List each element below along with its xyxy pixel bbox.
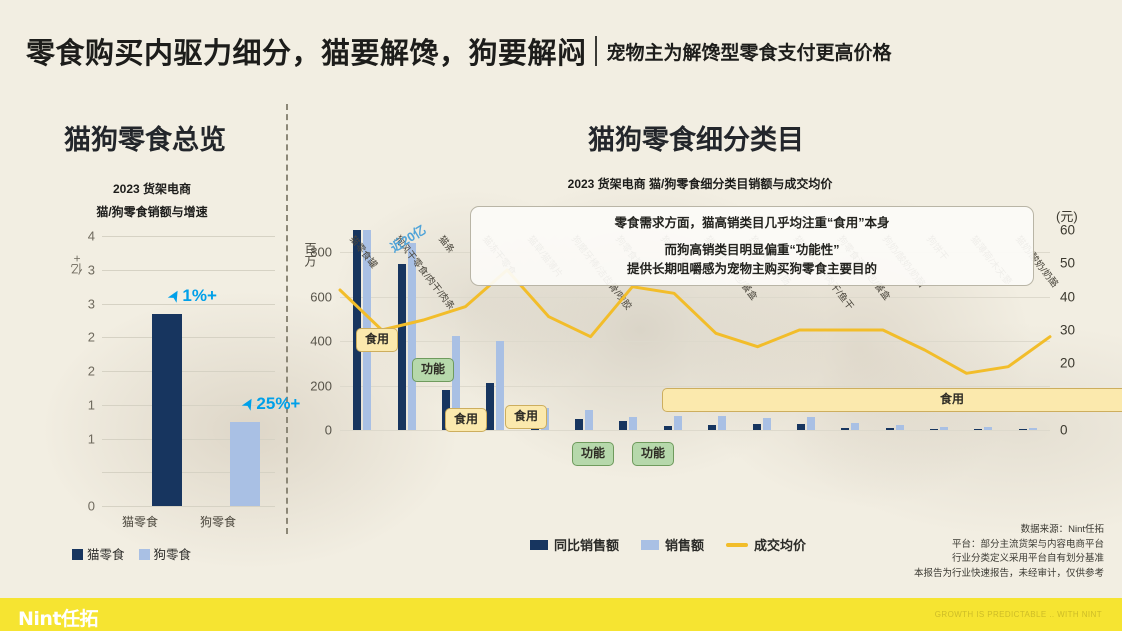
left-subtitle-line-1: 2023 货架电商 xyxy=(62,178,242,201)
category-driver-tag: 食用 xyxy=(505,405,547,429)
overview-y-axis-unit: 亿+ xyxy=(68,254,85,275)
overview-y-tick: 0 xyxy=(88,499,95,514)
insight-line-2: 而狗高销类目明显偏重“功能性” xyxy=(627,241,877,259)
subcategory-y2-tick: 40 xyxy=(1060,289,1075,304)
growth-value: 1%+ xyxy=(182,286,217,305)
source-line-2: 平台：部分主流货架与内容电商平台 xyxy=(914,538,1104,553)
insight-line-1: 零食需求方面，猫高销类目几乎均注重“食用”本身 xyxy=(614,214,889,232)
legend-item-cat-snack: 猫零食 xyxy=(72,544,125,563)
category-driver-tag: 食用 xyxy=(356,328,398,352)
overview-bar xyxy=(152,314,182,506)
subcategory-y2-tick: 30 xyxy=(1060,323,1075,338)
legend-label-dog: 狗零食 xyxy=(154,548,192,562)
subcategory-y-tick: 0 xyxy=(325,423,332,438)
footer-tagline: GROWTH IS PREDICTABLE .. WITH NINT xyxy=(935,610,1102,619)
legend-label-avg-price: 成交均价 xyxy=(754,538,806,553)
source-line-3: 行业分类定义采用平台自有划分基准 xyxy=(914,552,1104,567)
legend-label-yoy: 同比销售额 xyxy=(554,538,619,553)
subcategory-legend: 同比销售额 销售额 成交均价 xyxy=(530,535,806,554)
right-section-title: 猫狗零食细分类目 xyxy=(588,118,804,157)
overview-chart: 亿+ 01122334➤1%+➤25%+ 猫零食 狗零食 xyxy=(60,236,275,528)
left-section-title: 猫狗零食总览 xyxy=(64,118,226,157)
overview-x-label-cat: 猫零食 xyxy=(122,513,158,530)
overview-y-tick: 2 xyxy=(88,364,95,379)
growth-annotation: ➤25%+ xyxy=(242,394,300,414)
insight-group-2: 而狗高销类目明显偏重“功能性” 提供长期咀嚼感为宠物主购买狗零食主要目的 xyxy=(627,241,877,277)
left-subtitle-line-2: 猫/狗零食销额与增速 xyxy=(62,201,242,224)
right-section-subtitle: 2023 货架电商 猫/狗零食细分类目销额与成交均价 xyxy=(400,173,1000,196)
overview-plot-area: 01122334➤1%+➤25%+ xyxy=(102,236,275,506)
overview-x-label-dog: 狗零食 xyxy=(200,513,236,530)
legend-item-avg-price: 成交均价 xyxy=(726,535,806,554)
legend-label-cat: 猫零食 xyxy=(87,548,125,562)
panel-divider xyxy=(286,104,288,534)
overview-y-tick: 2 xyxy=(88,330,95,345)
overview-y-tick: 3 xyxy=(88,262,95,277)
subcategory-y2-tick: 60 xyxy=(1060,223,1075,238)
source-line-1: 数据来源：Nint任拓 xyxy=(914,523,1104,538)
page-subtitle: 宠物主为解馋型零食支付更高价格 xyxy=(607,38,892,65)
growth-annotation: ➤1%+ xyxy=(168,286,217,306)
overview-gridline xyxy=(102,371,275,372)
legend-item-yoy-sales: 同比销售额 xyxy=(530,535,619,554)
overview-y-tick: 3 xyxy=(88,296,95,311)
legend-swatch-avg-price xyxy=(726,543,748,547)
category-driver-tag: 功能 xyxy=(412,358,454,382)
header: 零食购买内驱力细分，猫要解馋，狗要解闷 宠物主为解馋型零食支付更高价格 xyxy=(26,30,892,72)
category-driver-tag: 功能 xyxy=(572,442,614,466)
overview-legend: 猫零食 狗零食 xyxy=(72,544,191,563)
category-driver-tag: 食用 xyxy=(445,408,487,432)
legend-label-sales: 销售额 xyxy=(665,538,704,553)
subcategory-y-tick: 200 xyxy=(310,378,332,393)
page-title: 零食购买内驱力细分，猫要解馋，狗要解闷 xyxy=(26,30,587,72)
subcategory-y-tick: 400 xyxy=(310,334,332,349)
left-section-subtitle: 2023 货架电商 猫/狗零食销额与增速 xyxy=(62,178,242,224)
overview-gridline xyxy=(102,236,275,237)
subcategory-y2-tick: 50 xyxy=(1060,256,1075,271)
subcategory-y2-tick: 0 xyxy=(1060,423,1068,438)
legend-swatch-sales xyxy=(641,540,659,550)
subcategory-y2-tick: 20 xyxy=(1060,356,1075,371)
legend-item-sales: 销售额 xyxy=(641,535,704,554)
insight-line-3: 提供长期咀嚼感为宠物主购买狗零食主要目的 xyxy=(627,260,877,278)
overview-gridline xyxy=(102,337,275,338)
subcategory-y-tick: 600 xyxy=(310,289,332,304)
overview-gridline xyxy=(102,506,275,507)
category-driver-tag: 食用 xyxy=(662,388,1122,412)
source-line-4: 本报告为行业快速报告，未经审计，仅供参考 xyxy=(914,567,1104,582)
footer-bar: Nint任拓 GROWTH IS PREDICTABLE .. WITH NIN… xyxy=(0,598,1122,631)
growth-value: 25%+ xyxy=(256,394,300,413)
overview-y-tick: 4 xyxy=(88,229,95,244)
subcategory-y-tick: 800 xyxy=(310,245,332,260)
brand-logo: Nint任拓 xyxy=(18,604,98,631)
title-divider xyxy=(595,36,597,66)
legend-swatch-dog xyxy=(139,549,150,560)
source-notes: 数据来源：Nint任拓 平台：部分主流货架与内容电商平台 行业分类定义采用平台自… xyxy=(914,523,1104,582)
overview-gridline xyxy=(102,270,275,271)
slide-page: 零食购买内驱力细分，猫要解馋，狗要解闷 宠物主为解馋型零食支付更高价格 猫狗零食… xyxy=(0,0,1122,631)
overview-y-tick: 1 xyxy=(88,397,95,412)
overview-bar xyxy=(230,422,260,506)
legend-swatch-yoy xyxy=(530,540,548,550)
overview-y-tick: 1 xyxy=(88,431,95,446)
insight-callout-box: 零食需求方面，猫高销类目几乎均注重“食用”本身 而狗高销类目明显偏重“功能性” … xyxy=(470,206,1034,286)
legend-swatch-cat xyxy=(72,549,83,560)
category-driver-tag: 功能 xyxy=(632,442,674,466)
legend-item-dog-snack: 狗零食 xyxy=(139,544,192,563)
